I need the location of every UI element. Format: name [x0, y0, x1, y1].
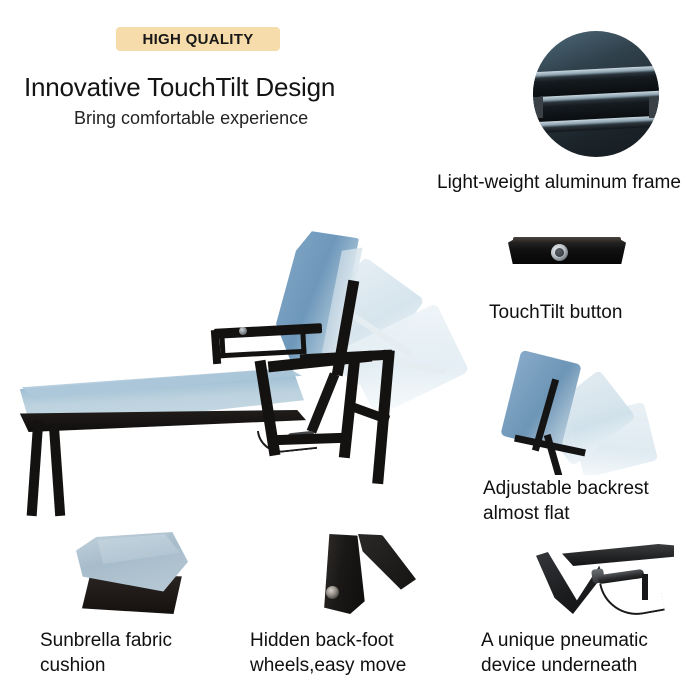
aluminum-frame-tab-right [649, 97, 659, 118]
page-subtitle: Bring comfortable experience [74, 108, 308, 129]
aluminum-frame-photo [533, 31, 659, 157]
caption-pneumatic-device: A unique pneumatic device underneath [481, 628, 696, 678]
aluminum-frame-tab-left [533, 97, 543, 118]
wheel-leg-upper-arm [358, 534, 416, 592]
armrest-bracket [219, 332, 306, 358]
adjustable-backrest-photo [498, 350, 673, 475]
back-foot-wheel-photo [310, 528, 420, 618]
touchtilt-button-photo [508, 234, 626, 266]
caption-touchtilt-button: TouchTilt button [489, 300, 689, 325]
caption-back-foot-wheels: Hidden back-foot wheels,easy move [250, 628, 462, 678]
sunbrella-cushion-photo [76, 530, 196, 622]
high-quality-badge: HIGH QUALITY [116, 27, 280, 51]
caption-sunbrella-cushion: Sunbrella fabric cushion [40, 628, 240, 678]
side-frame-bottom [268, 433, 350, 446]
caption-aluminum-frame: Light-weight aluminum frame [437, 170, 695, 195]
hidden-wheel [326, 586, 339, 599]
touchtilt-button-knob [551, 244, 568, 261]
pneumatic-mount-post [642, 574, 648, 600]
caption-adjustable-backrest: Adjustable backrest almost flat [483, 476, 698, 526]
pneumatic-frame-rail [562, 544, 674, 566]
front-leg-left [27, 420, 44, 516]
front-leg-right [49, 424, 65, 516]
pneumatic-device-photo [530, 538, 680, 618]
page-title: Innovative TouchTilt Design [24, 72, 335, 103]
high-quality-badge-label: HIGH QUALITY [142, 31, 253, 48]
product-hero-image [0, 222, 480, 518]
touchtilt-bar-top-edge [513, 237, 622, 242]
armrest-bolt [239, 327, 247, 335]
